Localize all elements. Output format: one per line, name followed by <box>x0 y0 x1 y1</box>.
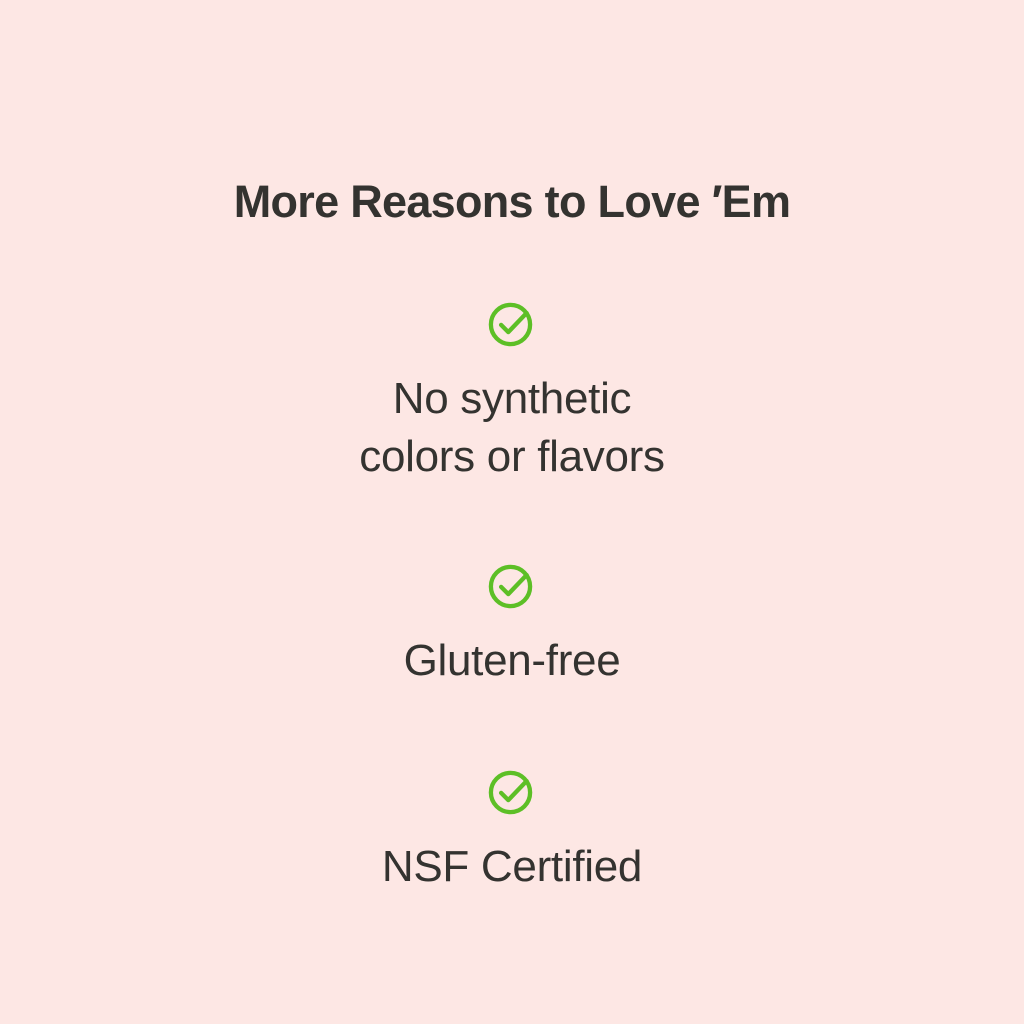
list-item-label: Gluten-free <box>404 632 621 690</box>
check-circle-icon <box>486 297 538 349</box>
check-circle-icon <box>486 765 538 817</box>
list-item: Gluten-free <box>0 559 1024 690</box>
product-benefits-panel: More Reasons to Love ′Em No synthetic co… <box>0 0 1024 1024</box>
list-item-label: NSF Certified <box>382 838 642 896</box>
list-item: No synthetic colors or flavors <box>0 297 1024 486</box>
list-item: NSF Certified <box>0 765 1024 896</box>
page-title: More Reasons to Love ′Em <box>234 176 791 228</box>
benefit-list: No synthetic colors or flavors Gluten-fr… <box>0 228 1024 896</box>
list-item-label: No synthetic colors or flavors <box>359 370 664 486</box>
check-circle-icon <box>486 559 538 611</box>
